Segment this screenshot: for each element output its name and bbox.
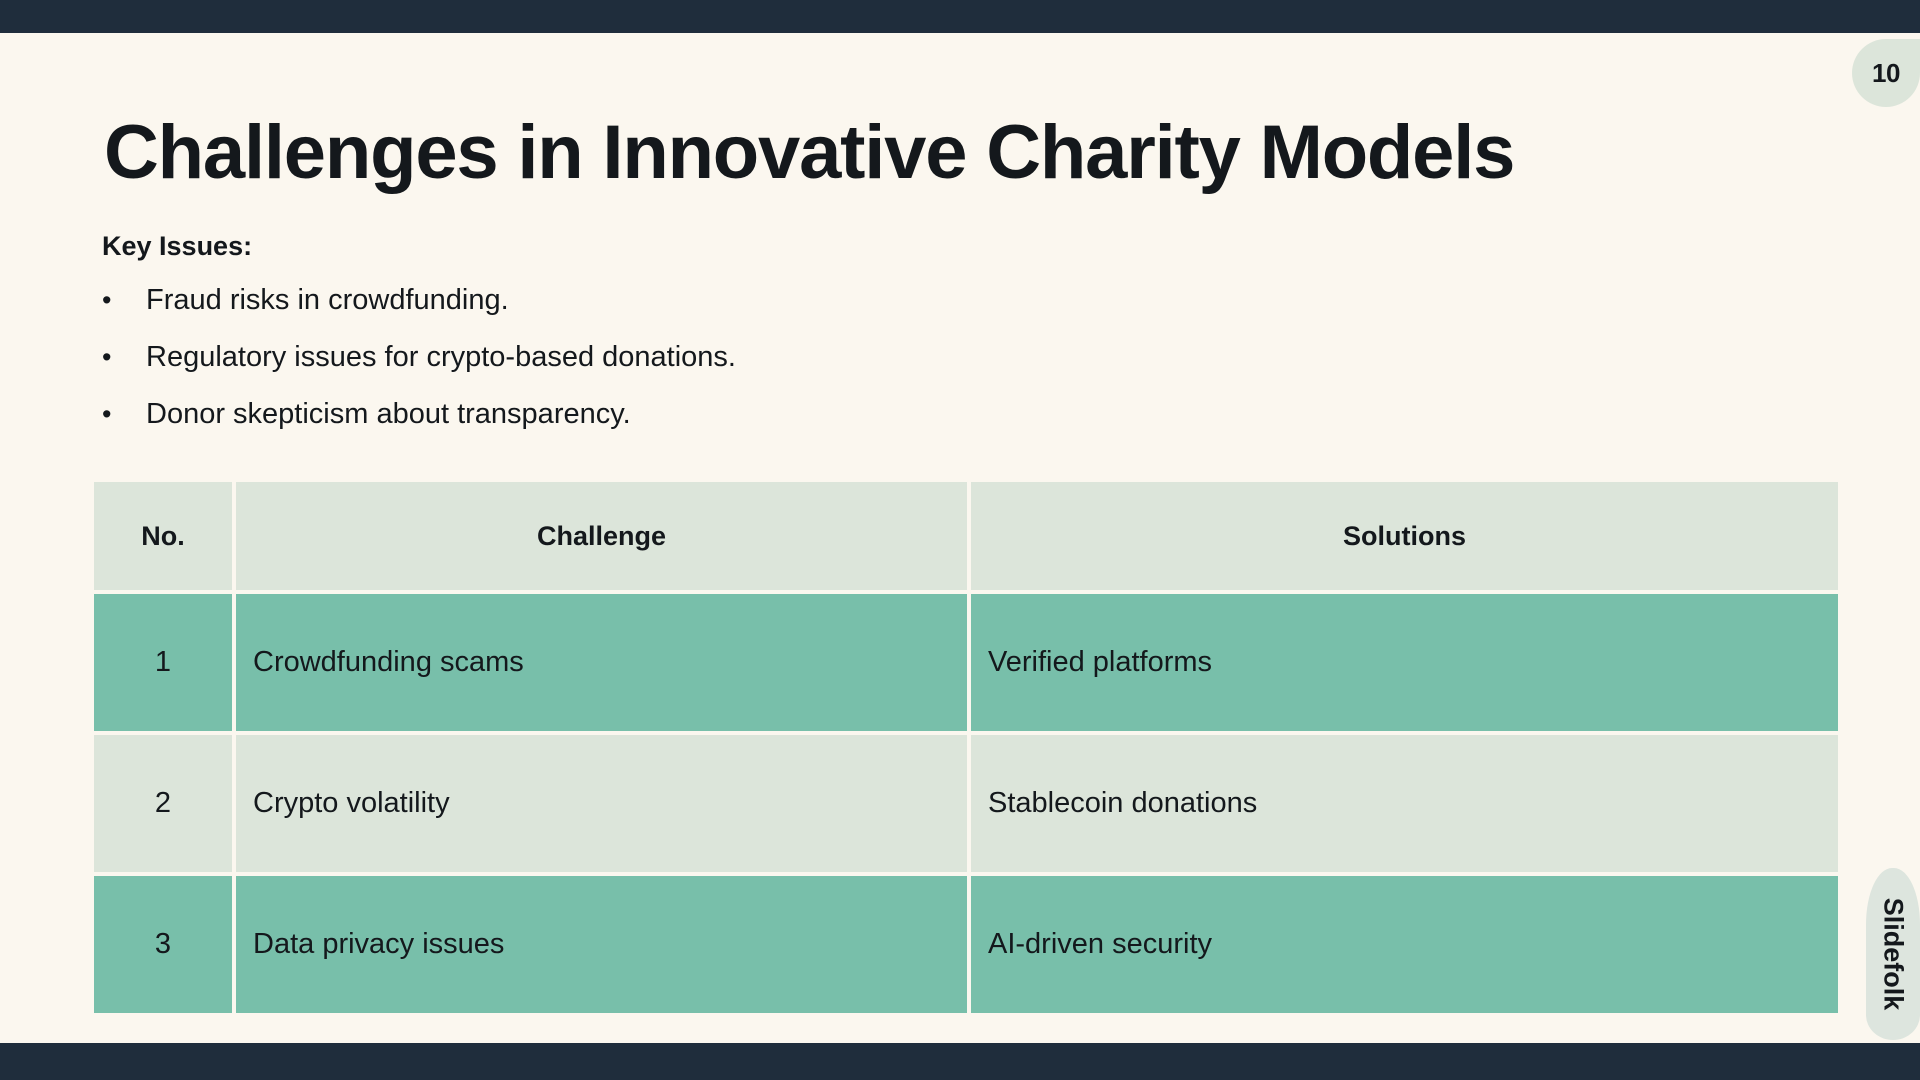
cell-challenge: Crypto volatility — [236, 735, 967, 872]
cell-solution: AI-driven security — [971, 876, 1838, 1013]
list-item-label: Fraud risks in crowdfunding. — [146, 280, 509, 320]
bullet-icon: • — [102, 394, 146, 434]
list-item: • Fraud risks in crowdfunding. — [102, 280, 1202, 337]
table-body: 1 Crowdfunding scams Verified platforms … — [94, 594, 1838, 1013]
top-bar — [0, 0, 1920, 33]
bullet-icon: • — [102, 337, 146, 377]
key-issues-list: • Fraud risks in crowdfunding. • Regulat… — [102, 280, 1202, 451]
slide-canvas: 10 Challenges in Innovative Charity Mode… — [0, 0, 1920, 1080]
bullet-icon: • — [102, 280, 146, 320]
table-row: 2 Crypto volatility Stablecoin donations — [94, 735, 1838, 872]
cell-challenge: Crowdfunding scams — [236, 594, 967, 731]
key-issues-heading: Key Issues: — [102, 231, 252, 262]
brand-tab[interactable]: Slidefolk — [1866, 868, 1920, 1040]
page-number-label: 10 — [1872, 58, 1900, 89]
cell-no: 1 — [94, 594, 232, 731]
column-header-no: No. — [94, 482, 232, 590]
table-header: No. Challenge Solutions — [94, 482, 1838, 590]
brand-label: Slidefolk — [1878, 898, 1909, 1011]
column-header-challenge: Challenge — [236, 482, 967, 590]
cell-challenge: Data privacy issues — [236, 876, 967, 1013]
list-item-label: Donor skepticism about transparency. — [146, 394, 631, 434]
cell-solution: Verified platforms — [971, 594, 1838, 731]
cell-solution: Stablecoin donations — [971, 735, 1838, 872]
challenges-table: No. Challenge Solutions 1 Crowdfunding s… — [90, 478, 1842, 1017]
page-number-badge: 10 — [1852, 39, 1920, 107]
table-row: 1 Crowdfunding scams Verified platforms — [94, 594, 1838, 731]
list-item: • Donor skepticism about transparency. — [102, 394, 1202, 451]
list-item: • Regulatory issues for crypto-based don… — [102, 337, 1202, 394]
column-header-solutions: Solutions — [971, 482, 1838, 590]
cell-no: 3 — [94, 876, 232, 1013]
page-title: Challenges in Innovative Charity Models — [104, 109, 1824, 197]
list-item-label: Regulatory issues for crypto-based donat… — [146, 337, 736, 377]
bottom-bar — [0, 1043, 1920, 1080]
table-row: 3 Data privacy issues AI-driven security — [94, 876, 1838, 1013]
cell-no: 2 — [94, 735, 232, 872]
table-header-row: No. Challenge Solutions — [94, 482, 1838, 590]
